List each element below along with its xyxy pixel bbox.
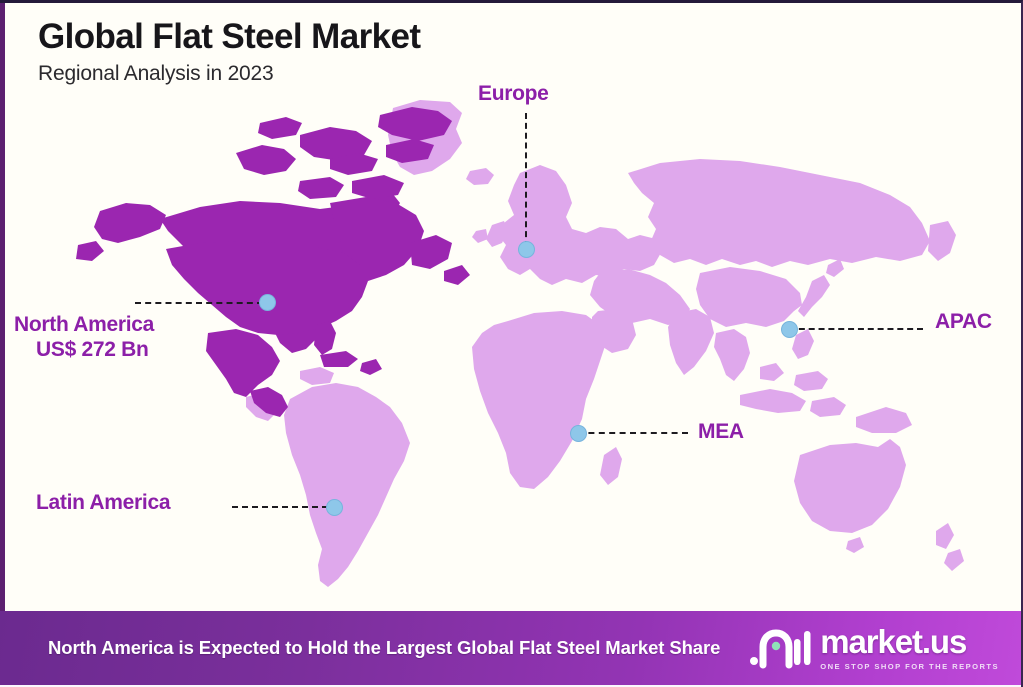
callout-north-america-value: US$ 272 Bn xyxy=(36,338,154,363)
logo-wordmark: market.us xyxy=(820,625,966,658)
market-us-logo-text: market.us ONE STOP SHOP FOR THE REPORTS xyxy=(820,625,999,671)
callout-europe-name: Europe xyxy=(478,82,549,107)
callout-apac: APAC xyxy=(935,310,992,335)
callout-mea: MEA xyxy=(698,420,744,445)
callout-europe: Europe xyxy=(478,82,549,107)
callout-north-america: North America US$ 272 Bn xyxy=(14,313,154,363)
logo-tagline: ONE STOP SHOP FOR THE REPORTS xyxy=(820,662,999,671)
leader-line-apac xyxy=(789,328,923,330)
infographic-root: Global Flat Steel Market Regional Analys… xyxy=(0,0,1023,687)
market-us-logo-mark xyxy=(749,625,811,671)
bottom-banner: North America is Expected to Hold the La… xyxy=(0,611,1023,685)
map-marker-north-america[interactable] xyxy=(259,294,276,311)
callout-north-america-name: North America xyxy=(14,313,154,338)
map-marker-apac[interactable] xyxy=(781,321,798,338)
leader-line-mea xyxy=(578,432,688,434)
header: Global Flat Steel Market Regional Analys… xyxy=(38,17,420,86)
callout-latin-america-name: Latin America xyxy=(36,491,170,516)
leader-line-europe xyxy=(525,113,527,247)
banner-headline: North America is Expected to Hold the La… xyxy=(48,636,720,661)
map-region-north-america-highlight xyxy=(76,107,470,417)
page-subtitle: Regional Analysis in 2023 xyxy=(38,62,420,86)
map-marker-mea[interactable] xyxy=(570,425,587,442)
market-us-logo[interactable]: market.us ONE STOP SHOP FOR THE REPORTS xyxy=(749,625,1005,671)
map-marker-europe[interactable] xyxy=(518,241,535,258)
leader-line-latin-america xyxy=(232,506,328,508)
callout-latin-america: Latin America xyxy=(36,491,170,516)
callout-mea-name: MEA xyxy=(698,420,744,445)
leader-line-north-america xyxy=(135,302,263,304)
callout-apac-name: APAC xyxy=(935,310,992,335)
map-marker-latin-america[interactable] xyxy=(326,499,343,516)
left-accent-stripe xyxy=(0,3,5,611)
page-title: Global Flat Steel Market xyxy=(38,17,420,56)
